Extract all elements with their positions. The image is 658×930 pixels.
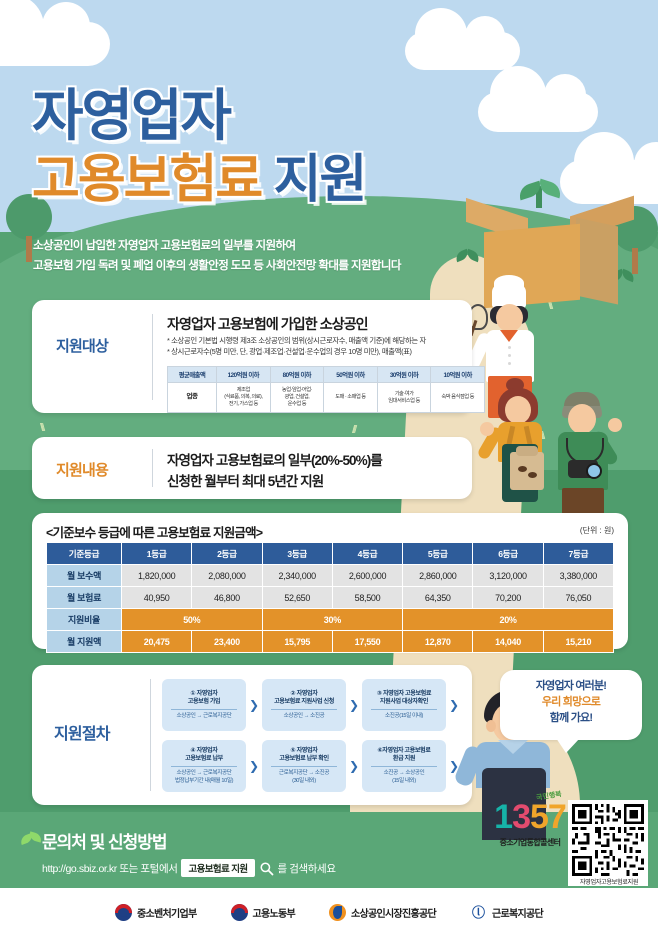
td-value: 70,200 (473, 587, 543, 609)
table-header-row: 기준등급1등급2등급3등급4등급5등급6등급7등급 (47, 543, 614, 565)
agency-logo-3: 소상공인시장진흥공단 (329, 904, 436, 921)
td-ratio: 20% (403, 609, 614, 631)
chevron-right-icon: ❯ (246, 759, 262, 773)
td-industry-1: 제조업 (식료품, 의복, 의료), 전기, 가스업 등 (217, 383, 271, 413)
chevron-right-icon: ❯ (346, 759, 362, 773)
process-step-title: ③ 자영업자 고용보험료 지원사업 대상자확인 (375, 690, 433, 706)
td-value: 2,080,000 (192, 565, 262, 587)
process-step-actor: 근로복지공단 → 소진공 (30일 내외) (277, 770, 331, 785)
qr-code[interactable] (568, 800, 648, 886)
process-step-title: ⑥자영업자 고용보험료 환급 지원 (376, 747, 433, 763)
th-grade-4: 4등급 (332, 543, 402, 565)
td-value: 52,650 (262, 587, 332, 609)
td-row-label: 지원비율 (47, 609, 122, 631)
process-row-2: ④ 자영업자 고용보험료 납부소상공인 → 근로복지공단 법정납부기간 내(매월… (162, 740, 462, 792)
th-grade-6: 6등급 (473, 543, 543, 565)
process-step-5: ⑤ 자영업자 고용보험료 납부 확인근로복지공단 → 소진공 (30일 내외) (262, 740, 346, 792)
qr-caption: 자영업자고용보험료지원 (566, 877, 652, 886)
divider (271, 709, 337, 710)
taegeuk-icon (231, 904, 248, 921)
divider (371, 766, 437, 767)
contact-section: 문의처 및 신청방법 http://go.sbiz.or.kr 또는 포털에서 … (42, 828, 336, 877)
table-header-row: 평균매출액 120억원 이하 80억원 이하 50억원 이하 30억원 이하 1… (168, 367, 485, 383)
td-value: 23,400 (192, 631, 262, 653)
td-value: 3,120,000 (473, 565, 543, 587)
process-card: 지원절차 ① 자영업자 고용보험 가입소상공인 → 근로복지공단❯② 자영업자 … (32, 665, 472, 805)
poster-subtitle: 소상공인이 납입한 자영업자 고용보험료의 일부를 지원하여 고용보험 가입 독… (33, 236, 401, 276)
kcomwel-icon: ⓛ (470, 904, 487, 921)
process-step-6: ⑥자영업자 고용보험료 환급 지원소진공 → 소상공인 (15일 내외) (362, 740, 446, 792)
grade-table-unit: (단위 : 원) (580, 525, 614, 536)
cloud-icon (478, 92, 598, 132)
td-row-label: 월 보수액 (47, 565, 122, 587)
table-row: 월 보험료40,95046,80052,65058,50064,35070,20… (47, 587, 614, 609)
td-value: 15,795 (262, 631, 332, 653)
subtitle-line-2: 고용보험 가입 독려 및 폐업 이후의 생활안정 도모 등 사회안전망 확대를 … (33, 256, 401, 276)
process-step-actor: 소상공인 → 근로복지공단 (175, 713, 234, 720)
bubble-line-1: 자영업자 여러분! (510, 679, 632, 695)
td-value: 2,860,000 (403, 565, 473, 587)
cloud-icon (0, 22, 110, 66)
process-flow: ① 자영업자 고용보험 가입소상공인 → 근로복지공단❯② 자영업자 고용보험료… (162, 679, 462, 801)
td-row-label: 업종 (168, 383, 217, 413)
table-row: 월 지원액20,47523,40015,79517,55012,87014,04… (47, 631, 614, 653)
td-value: 58,500 (332, 587, 402, 609)
divider (371, 709, 437, 710)
th-80: 80억원 이하 (270, 367, 324, 383)
cloud-icon (405, 32, 520, 70)
support-content-text: 자영업자 고용보험료의 일부(20%-50%)를 신청한 월부터 최대 5년간 … (167, 451, 382, 493)
th-120: 120억원 이하 (217, 367, 271, 383)
support-content-card: 지원내용 자영업자 고용보험료의 일부(20%-50%)를 신청한 월부터 최대… (32, 437, 472, 499)
td-row-label: 월 지원액 (47, 631, 122, 653)
td-value: 1,820,000 (122, 565, 192, 587)
support-target-note-1: * 소상공인 기본법 시행령 제3조 소상공인의 범위(상시근로자수, 매출액 … (167, 335, 426, 346)
td-value: 40,950 (122, 587, 192, 609)
process-step-1: ① 자영업자 고용보험 가입소상공인 → 근로복지공단 (162, 679, 246, 731)
grade-amount-table: 기준등급1등급2등급3등급4등급5등급6등급7등급 월 보수액1,820,000… (46, 542, 614, 653)
agency-logo-1: 중소벤처기업부 (115, 904, 197, 921)
divider (171, 709, 237, 710)
process-row-1: ① 자영업자 고용보험 가입소상공인 → 근로복지공단❯② 자영업자 고용보험료… (162, 679, 462, 731)
poster-title: 자영업자 고용보험료 지원 (32, 88, 365, 206)
call-center-caption: 중소기업통합콜센터 (480, 837, 580, 848)
support-content-label: 지원내용 (56, 459, 108, 480)
support-content-line-1: 자영업자 고용보험료의 일부(20%-50%)를 (167, 451, 382, 472)
chevron-right-icon: ❯ (246, 698, 262, 712)
contact-url-text: http://go.sbiz.or.kr 또는 포털에서 (42, 861, 177, 876)
contact-suffix: 를 검색하세요 (278, 861, 336, 876)
subtitle-line-1: 소상공인이 납입한 자영업자 고용보험료의 일부를 지원하여 (33, 236, 401, 256)
sprout-icon (455, 248, 481, 262)
td-value: 14,040 (473, 631, 543, 653)
process-step-actor: 소상공인 → 소진공 (282, 713, 327, 720)
process-step-actor: 소진공 → 소상공인 (15일 내외) (382, 770, 427, 785)
agency-logo-name: 근로복지공단 (492, 905, 543, 920)
search-term-box[interactable]: 고용보험료 지원 (181, 859, 254, 877)
th-grade-5: 5등급 (403, 543, 473, 565)
process-step-2: ② 자영업자 고용보험료 지원사업 신청소상공인 → 소진공 (262, 679, 346, 731)
chevron-right-icon: ❯ (446, 698, 462, 712)
td-industry-3: 도매 · 소매업 등 (324, 383, 378, 413)
th-10: 10억원 이하 (431, 367, 485, 383)
call-center-badge: 국민행복 1357 중소기업통합콜센터 (480, 800, 580, 866)
process-step-title: ② 자영업자 고용보험료 지원사업 신청 (272, 690, 336, 706)
divider (150, 679, 151, 791)
agency-logo-name: 소상공인시장진흥공단 (351, 905, 436, 920)
support-target-label: 지원대상 (56, 335, 108, 356)
td-ratio: 30% (262, 609, 403, 631)
table-body: 월 보수액1,820,0002,080,0002,340,0002,600,00… (47, 565, 614, 653)
support-target-card: 지원대상 자영업자 고용보험에 가입한 소상공인 * 소상공인 기본법 시행령 … (32, 300, 472, 413)
title-line-2-blue: 지원 (274, 151, 366, 209)
agency-logo-2: 고용노동부 (231, 904, 296, 921)
bubble-line-3: 함께 가요! (510, 711, 632, 727)
th-grade-3: 3등급 (262, 543, 332, 565)
td-value: 15,210 (543, 631, 613, 653)
title-line-1: 자영업자 (32, 88, 365, 144)
support-target-heading: 자영업자 고용보험에 가입한 소상공인 (167, 314, 368, 334)
speech-bubble: 자영업자 여러분! 우리 희망으로 함께 가요! (500, 670, 642, 740)
td-ratio: 50% (122, 609, 263, 631)
td-industry-4: 기술·여가 임대서비스업 등 (377, 383, 431, 413)
th-grade-label: 기준등급 (47, 543, 122, 565)
process-label: 지원절차 (54, 720, 110, 744)
td-value: 20,475 (122, 631, 192, 653)
title-line-2-orange: 고용보험료 (32, 151, 261, 209)
grade-amount-card: <기준보수 등급에 따른 고용보험료 지원금액> (단위 : 원) 기준등급1등… (32, 513, 628, 649)
qr-code-image (572, 804, 644, 876)
contact-url-row: http://go.sbiz.or.kr 또는 포털에서 고용보험료 지원 를 … (42, 859, 336, 877)
td-row-label: 월 보험료 (47, 587, 122, 609)
process-step-title: ① 자영업자 고용보험 가입 (186, 690, 223, 706)
td-value: 64,350 (403, 587, 473, 609)
process-step-title: ⑤ 자영업자 고용보험료 납부 확인 (277, 747, 330, 763)
process-step-3: ③ 자영업자 고용보험료 지원사업 대상자확인소진공(15일 이내) (362, 679, 446, 731)
td-industry-2: 농업·임업·어업· 광업, 건설업, 운수업 등 (270, 383, 324, 413)
process-step-actor: 소진공(15일 이내) (383, 713, 425, 720)
th-grade-1: 1등급 (122, 543, 192, 565)
divider (152, 314, 153, 400)
agency-logo-name: 중소벤처기업부 (137, 905, 197, 920)
process-step-actor: 소상공인 → 근로복지공단 법정납부기간 내(매월 10일) (173, 770, 235, 785)
support-content-line-2: 신청한 월부터 최대 5년간 지원 (167, 472, 382, 493)
poster-root: \\\ /// \\\ \\\ 자영업자 고용보험료 지원 소상공인이 납입한 … (0, 0, 658, 930)
call-center-number: 1357 (480, 800, 580, 834)
taegeuk-icon (115, 904, 132, 921)
sbiz-icon (329, 904, 346, 921)
th-50: 50억원 이하 (324, 367, 378, 383)
grade-table-title: <기준보수 등급에 따른 고용보험료 지원금액> (46, 522, 262, 541)
td-value: 76,050 (543, 587, 613, 609)
chevron-right-icon: ❯ (346, 698, 362, 712)
support-target-notes: * 소상공인 기본법 시행령 제3조 소상공인의 범위(상시근로자수, 매출액 … (167, 335, 426, 358)
td-industry-5: 숙박 음식점업 등 (431, 383, 485, 413)
divider (152, 449, 153, 487)
td-value: 2,340,000 (262, 565, 332, 587)
th-revenue: 평균매출액 (168, 367, 217, 383)
agency-logo-4: ⓛ근로복지공단 (470, 904, 543, 921)
th-30: 30억원 이하 (377, 367, 431, 383)
td-value: 12,870 (403, 631, 473, 653)
table-row: 지원비율50%30%20% (47, 609, 614, 631)
process-step-4: ④ 자영업자 고용보험료 납부소상공인 → 근로복지공단 법정납부기간 내(매월… (162, 740, 246, 792)
td-value: 2,600,000 (332, 565, 402, 587)
contact-title: 문의처 및 신청방법 (42, 828, 336, 853)
title-line-2: 고용보험료 지원 (32, 154, 365, 206)
speech-bubble-text: 자영업자 여러분! 우리 희망으로 함께 가요! (500, 670, 642, 727)
industry-revenue-table: 평균매출액 120억원 이하 80억원 이하 50억원 이하 30억원 이하 1… (167, 366, 485, 413)
leaf-icon (20, 832, 40, 844)
table-row: 업종 제조업 (식료품, 의복, 의료), 전기, 가스업 등 농업·임업·어업… (168, 383, 485, 413)
search-icon[interactable] (259, 861, 274, 876)
process-step-title: ④ 자영업자 고용보험료 납부 (183, 747, 225, 763)
agency-logo-name: 고용노동부 (253, 905, 296, 920)
td-value: 46,800 (192, 587, 262, 609)
divider (271, 766, 337, 767)
td-value: 17,550 (332, 631, 402, 653)
th-grade-2: 2등급 (192, 543, 262, 565)
td-value: 3,380,000 (543, 565, 613, 587)
table-row: 월 보수액1,820,0002,080,0002,340,0002,600,00… (47, 565, 614, 587)
divider (171, 766, 237, 767)
th-grade-7: 7등급 (543, 543, 613, 565)
agency-logos: 중소벤처기업부고용노동부소상공인시장진흥공단ⓛ근로복지공단 (0, 894, 658, 930)
cloud-icon (560, 160, 658, 204)
bubble-line-2: 우리 희망으로 (510, 695, 632, 711)
support-target-note-2: * 상시근로자수(5명 미만, 단, 광업·제조업·건설업·운수업의 경우 10… (167, 346, 426, 357)
